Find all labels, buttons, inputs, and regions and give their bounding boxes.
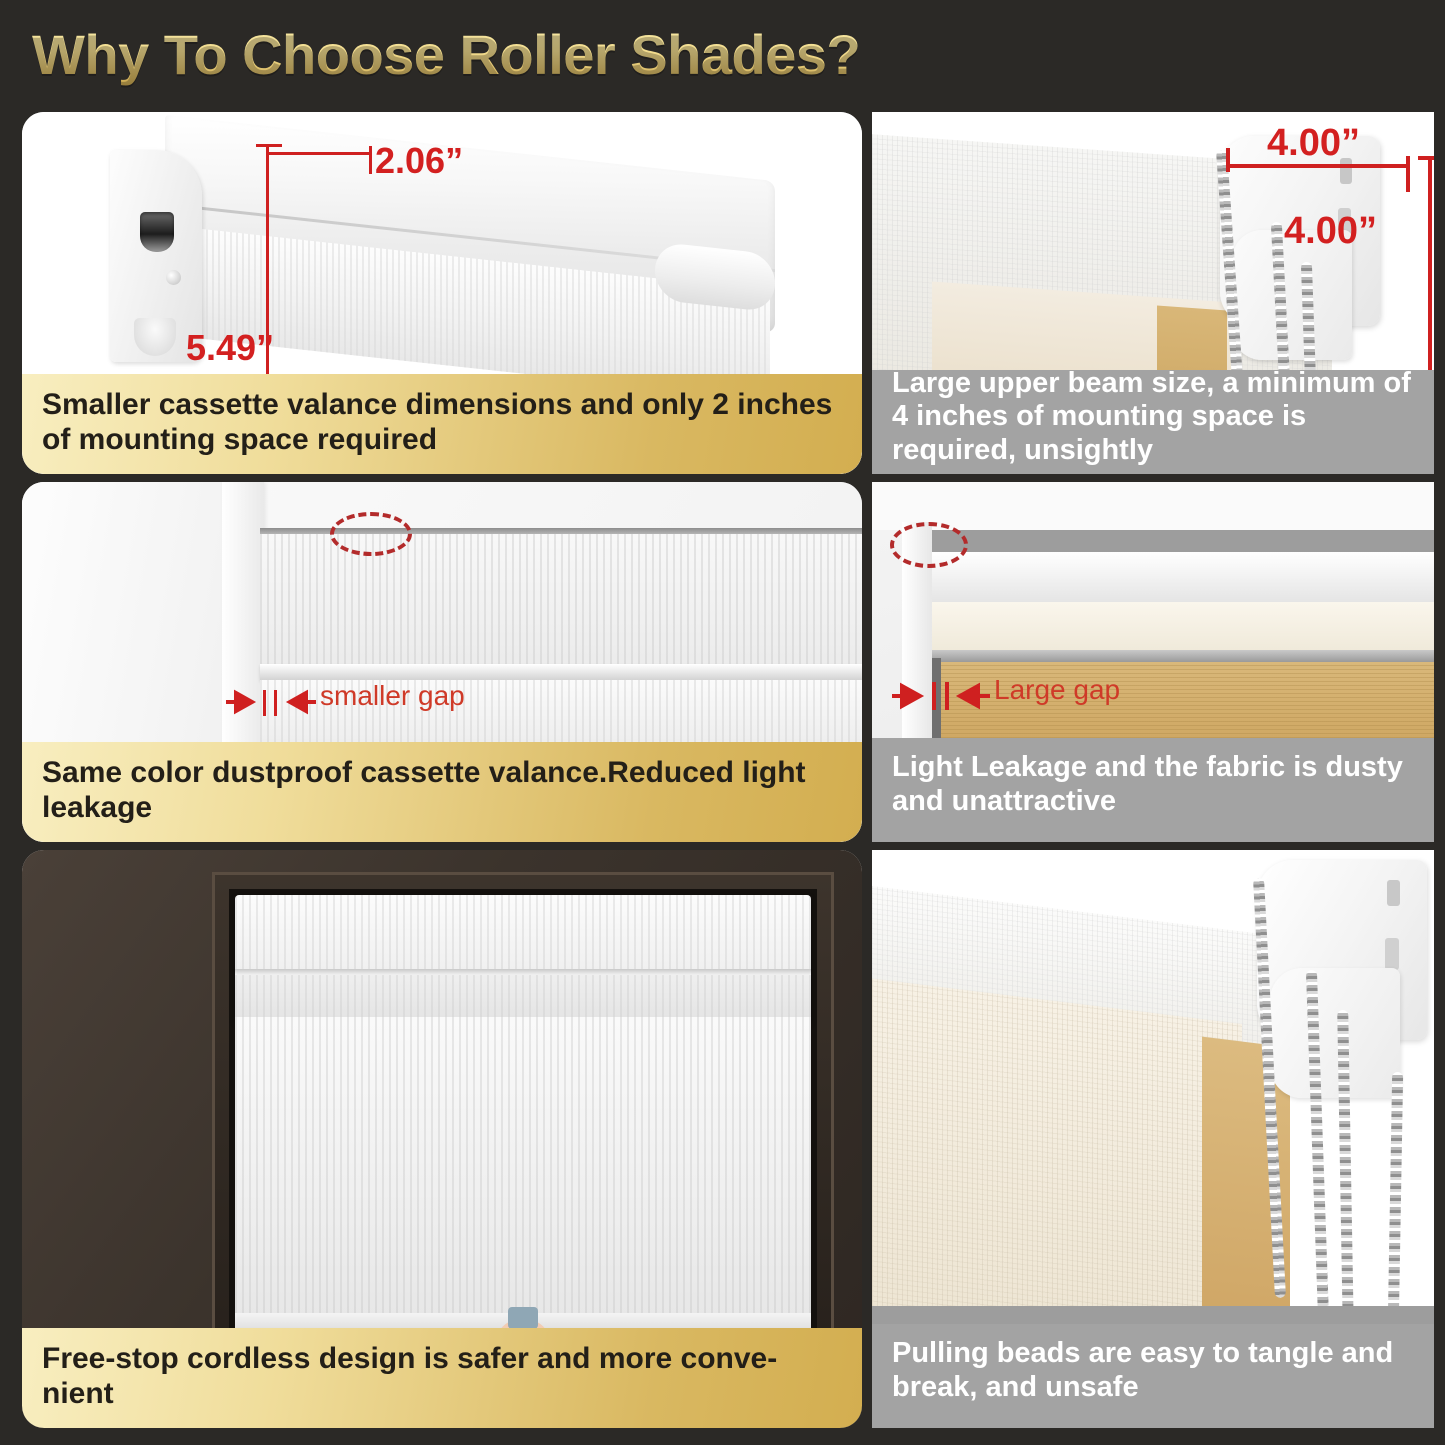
comparison-grid: 2.06” 5.49” Smaller cassette valance dim… xyxy=(22,112,1426,1430)
page-title: Why To Choose Roller Shades? xyxy=(32,22,860,87)
gap-arrow-left-icon xyxy=(892,680,926,712)
panel-caption: Pulling beads are easy to tangle and bre… xyxy=(872,1324,1434,1428)
panel-smaller-cassette: 2.06” 5.49” Smaller cassette valance dim… xyxy=(22,112,862,474)
panel-cordless-design: Free-stop cordless design is safer and m… xyxy=(22,850,862,1428)
panel-caption: Same color dustproof cassette valance.Re… xyxy=(22,742,862,842)
gap-arrow-left-icon xyxy=(226,687,258,717)
gap-highlight-ellipse xyxy=(890,522,968,568)
beam-width-tick-left xyxy=(1226,148,1230,172)
gap-edge-line-a xyxy=(263,690,266,716)
width-dim-line xyxy=(266,152,372,155)
gap-edge-line-b xyxy=(945,682,949,710)
smaller-gap-label: smaller gap xyxy=(320,680,465,712)
large-gap-label: Large gap xyxy=(994,674,1120,706)
panel-caption: Large upper beam size, a minimum of 4 in… xyxy=(872,370,1434,474)
panel-large-gap: Large gap Light Leakage and the fabric i… xyxy=(872,482,1434,842)
beam-width-tick-right xyxy=(1406,156,1410,192)
gap-edge-line-b xyxy=(274,690,277,716)
panel-caption: Light Leakage and the fabric is dusty an… xyxy=(872,738,1434,842)
beam-height-dim-line xyxy=(1428,156,1432,384)
height-dimension-label: 5.49” xyxy=(186,327,274,369)
width-dimension-label: 2.06” xyxy=(375,140,463,182)
gap-arrow-right-icon xyxy=(282,687,318,717)
panel-large-beam: 4.00” 4.00” Large upper beam size, a min… xyxy=(872,112,1434,474)
beam-height-tick-top xyxy=(1418,156,1434,160)
height-dim-tick-top xyxy=(256,144,282,147)
panel-small-gap: smaller gap Same color dustproof cassett… xyxy=(22,482,862,842)
width-dim-tick-right xyxy=(369,146,372,174)
pull-grip xyxy=(508,1307,538,1329)
gap-highlight-ellipse xyxy=(330,512,412,556)
beam-width-label: 4.00” xyxy=(1267,122,1360,165)
panel-caption: Free-stop cordless design is safer and m… xyxy=(22,1328,862,1428)
panel-caption: Smaller cassette valance dimensions and … xyxy=(22,374,862,474)
panel-bead-chain: Pulling beads are easy to tangle and bre… xyxy=(872,850,1434,1428)
gap-arrow-right-icon xyxy=(954,680,992,712)
gap-edge-line-a xyxy=(932,682,936,710)
beam-height-label: 4.00” xyxy=(1284,210,1377,253)
